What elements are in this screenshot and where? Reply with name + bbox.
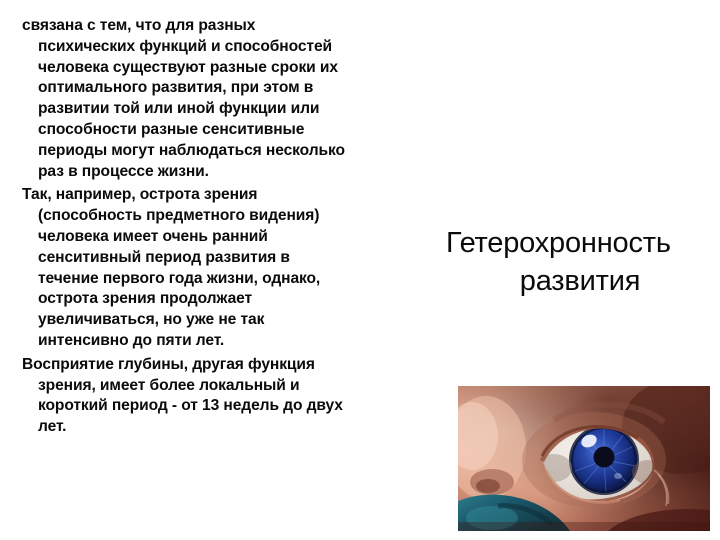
text-line: Так, например, острота зрения [22,185,452,206]
text-line: сенситивный период развития в [38,248,452,269]
baby-eye-illustration [458,386,710,531]
text-line: Восприятие глубины, другая функция [22,355,452,376]
text-line: человека существуют разные сроки их [38,58,452,79]
text-line: способности разные сенситивные [38,120,452,141]
text-line: связана с тем, что для разных [22,16,452,37]
title-line-1: Гетерохронность [446,224,720,262]
text-line: психических функций и способностей [38,37,452,58]
text-line: острота зрения продолжает [38,289,452,310]
text-line: развитии той или иной функции или [38,99,452,120]
text-line: раз в процессе жизни. [38,162,452,183]
text-line: течение первого года жизни, однако, [38,269,452,290]
body-text-block: связана с тем, что для разных психически… [0,16,452,441]
text-line: оптимального развития, при этом в [38,78,452,99]
text-line: (способность предметного видения) [38,206,452,227]
text-line: лет. [38,417,452,438]
text-line: увеличиваться, но уже не так [38,310,452,331]
slide-canvas: связана с тем, что для разных психически… [0,0,720,540]
paragraph-1: связана с тем, что для разных психически… [0,16,452,182]
text-line: короткий период - от 13 недель до двух [38,396,452,417]
text-line: человека имеет очень ранний [38,227,452,248]
baby-eye-photo [458,386,710,531]
text-line: зрения, имеет более локальный и [38,376,452,397]
paragraph-2: Так, например, острота зрения (способнос… [0,185,452,351]
paragraph-3: Восприятие глубины, другая функция зрени… [0,355,452,438]
text-line: периоды могут наблюдаться несколько [38,141,452,162]
text-line: интенсивно до пяти лет. [38,331,452,352]
slide-title: Гетерохронность развития [440,224,720,300]
title-line-2: развития [432,262,720,300]
